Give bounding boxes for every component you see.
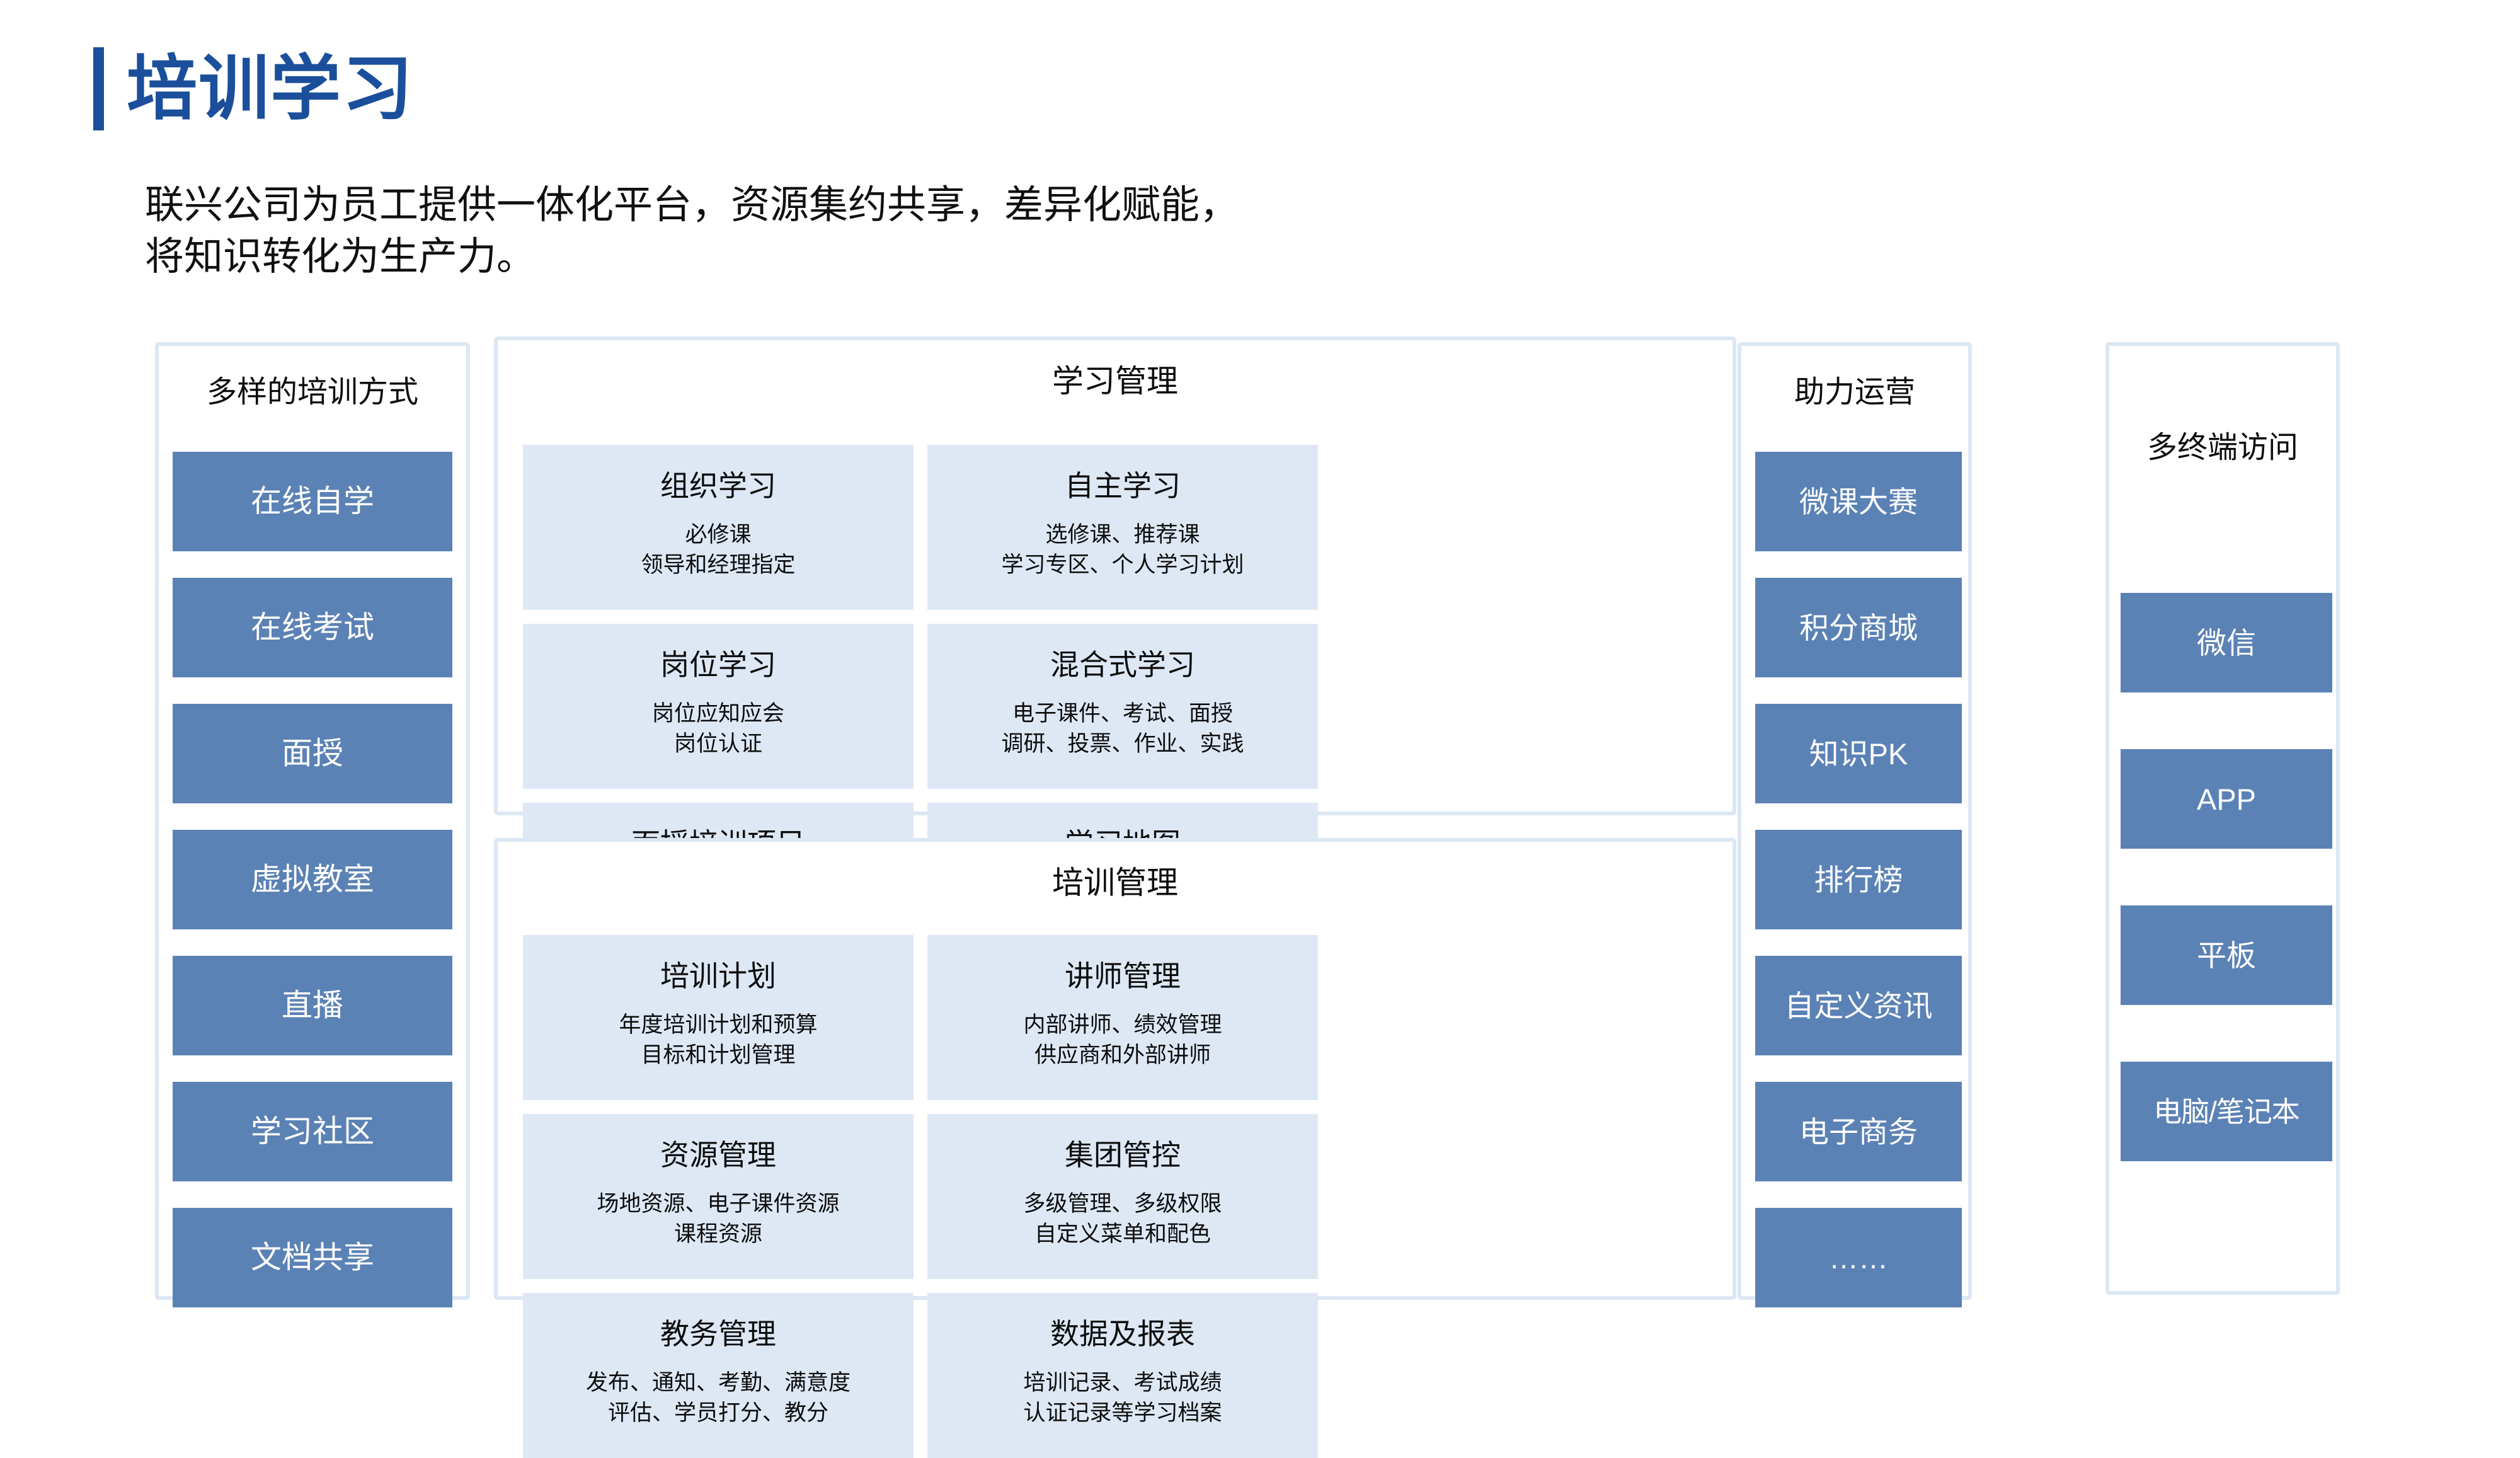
ops-tile-points-mall[interactable]: 积分商城 bbox=[1755, 578, 1962, 677]
learning-card-detail: 必修课 领导和经理指定 bbox=[641, 520, 795, 581]
panel-operations-support: 助力运营 微课大赛 积分商城 知识PK 排行榜 自定义资讯 电子商务 …… bbox=[1738, 342, 1972, 1300]
method-tile-document-sharing[interactable]: 文档共享 bbox=[173, 1208, 452, 1307]
ops-tile-label: 微课大赛 bbox=[1799, 487, 1918, 517]
learning-card-detail: 岗位应知应会 岗位认证 bbox=[652, 699, 784, 760]
training-card-detail: 多级管理、多级权限 自定义菜单和配色 bbox=[1023, 1189, 1222, 1250]
method-tile-in-person[interactable]: 面授 bbox=[173, 704, 452, 803]
training-card-detail: 培训记录、考试成绩 认证记录等学习档案 bbox=[1023, 1368, 1222, 1429]
ops-tile-more-ellipsis[interactable]: …… bbox=[1755, 1208, 1962, 1307]
training-card-title: 讲师管理 bbox=[1065, 960, 1181, 992]
method-tile-label: 面授 bbox=[282, 738, 343, 769]
panel-learning-management-heading: 学习管理 bbox=[498, 364, 1732, 399]
training-card-detail: 内部讲师、绩效管理 供应商和外部讲师 bbox=[1023, 1010, 1222, 1071]
ops-tile-custom-news[interactable]: 自定义资讯 bbox=[1755, 956, 1962, 1055]
ops-tile-micro-course-contest[interactable]: 微课大赛 bbox=[1755, 452, 1962, 551]
ops-tile-label: 排行榜 bbox=[1814, 865, 1903, 895]
ops-tile-label: 积分商城 bbox=[1799, 613, 1918, 643]
ops-tile-e-commerce[interactable]: 电子商务 bbox=[1755, 1082, 1962, 1181]
method-tile-label: 文档共享 bbox=[251, 1243, 374, 1273]
panel-learning-management: 学习管理 组织学习 必修课 领导和经理指定 自主学习 选修课、推荐课 学习专区、… bbox=[494, 336, 1736, 815]
training-methods-list: 在线自学 在线考试 面授 虚拟教室 直播 学习社区 文档共享 bbox=[173, 452, 452, 1334]
training-card-group-governance[interactable]: 集团管控 多级管理、多级权限 自定义菜单和配色 bbox=[927, 1114, 1318, 1279]
learning-card-self-directed-study[interactable]: 自主学习 选修课、推荐课 学习专区、个人学习计划 bbox=[927, 445, 1318, 610]
method-tile-label: 在线自学 bbox=[251, 486, 374, 517]
ops-tile-label: …… bbox=[1829, 1243, 1888, 1273]
method-tile-learning-community[interactable]: 学习社区 bbox=[173, 1082, 452, 1181]
terminal-tile-app[interactable]: APP bbox=[2121, 749, 2332, 849]
ops-tile-knowledge-pk[interactable]: 知识PK bbox=[1755, 704, 1962, 803]
operations-support-list: 微课大赛 积分商城 知识PK 排行榜 自定义资讯 电子商务 …… bbox=[1755, 452, 1962, 1334]
learning-card-organizational-study[interactable]: 组织学习 必修课 领导和经理指定 bbox=[523, 445, 913, 610]
training-card-academic-affairs[interactable]: 教务管理 发布、通知、考勤、满意度 评估、学员打分、教分 bbox=[523, 1293, 913, 1458]
training-card-detail: 发布、通知、考勤、满意度 评估、学员打分、教分 bbox=[586, 1368, 850, 1429]
ops-tile-label: 自定义资讯 bbox=[1785, 991, 1933, 1021]
method-tile-virtual-classroom[interactable]: 虚拟教室 bbox=[173, 830, 452, 929]
training-card-title: 集团管控 bbox=[1065, 1139, 1181, 1171]
method-tile-label: 直播 bbox=[282, 990, 343, 1021]
learning-card-blended-learning[interactable]: 混合式学习 电子课件、考试、面授 调研、投票、作业、实践 bbox=[927, 624, 1318, 789]
terminal-tile-label: APP bbox=[2197, 784, 2256, 814]
learning-card-job-post-study[interactable]: 岗位学习 岗位应知应会 岗位认证 bbox=[523, 624, 913, 789]
terminal-tile-label: 平板 bbox=[2197, 941, 2256, 970]
method-tile-online-self-study[interactable]: 在线自学 bbox=[173, 452, 452, 551]
learning-card-title: 混合式学习 bbox=[1050, 649, 1195, 681]
panel-multi-terminal-access: 多终端访问 微信 APP 平板 电脑/笔记本 bbox=[2105, 342, 2340, 1295]
panel-training-management: 培训管理 培训计划 年度培训计划和预算 目标和计划管理 讲师管理 内部讲师、绩效… bbox=[494, 838, 1736, 1300]
learning-card-title: 岗位学习 bbox=[660, 649, 776, 681]
training-card-title: 培训计划 bbox=[660, 960, 776, 992]
training-card-training-plan[interactable]: 培训计划 年度培训计划和预算 目标和计划管理 bbox=[523, 935, 913, 1100]
training-management-card-grid: 培训计划 年度培训计划和预算 目标和计划管理 讲师管理 内部讲师、绩效管理 供应… bbox=[523, 935, 1707, 1458]
ops-tile-leaderboard[interactable]: 排行榜 bbox=[1755, 830, 1962, 929]
training-card-instructor-management[interactable]: 讲师管理 内部讲师、绩效管理 供应商和外部讲师 bbox=[927, 935, 1318, 1100]
terminal-tile-wechat[interactable]: 微信 bbox=[2121, 593, 2332, 692]
training-card-detail: 年度培训计划和预算 目标和计划管理 bbox=[619, 1010, 817, 1071]
panel-training-methods: 多样的培训方式 在线自学 在线考试 面授 虚拟教室 直播 学习社区 文档共享 bbox=[155, 342, 470, 1300]
panel-training-methods-heading: 多样的培训方式 bbox=[159, 376, 466, 410]
terminal-tile-pc-laptop[interactable]: 电脑/笔记本 bbox=[2121, 1062, 2332, 1161]
learning-card-title: 自主学习 bbox=[1065, 470, 1181, 502]
ops-tile-label: 知识PK bbox=[1809, 739, 1908, 769]
method-tile-live-stream[interactable]: 直播 bbox=[173, 956, 452, 1055]
training-card-title: 数据及报表 bbox=[1050, 1318, 1195, 1350]
training-card-title: 资源管理 bbox=[660, 1139, 776, 1171]
learning-card-title: 组织学习 bbox=[660, 470, 776, 502]
terminal-tile-tablet[interactable]: 平板 bbox=[2121, 905, 2332, 1005]
learning-card-detail: 选修课、推荐课 学习专区、个人学习计划 bbox=[1001, 520, 1244, 581]
panel-training-management-heading: 培训管理 bbox=[498, 866, 1732, 900]
training-card-detail: 场地资源、电子课件资源 课程资源 bbox=[597, 1189, 839, 1250]
training-platform-diagram: 多样的培训方式 在线自学 在线考试 面授 虚拟教室 直播 学习社区 文档共享 学… bbox=[0, 0, 2520, 1418]
training-card-data-and-reports[interactable]: 数据及报表 培训记录、考试成绩 认证记录等学习档案 bbox=[927, 1293, 1318, 1458]
panel-multi-terminal-access-heading: 多终端访问 bbox=[2109, 432, 2336, 465]
terminal-tile-label: 电脑/笔记本 bbox=[2153, 1098, 2299, 1126]
method-tile-label: 在线考试 bbox=[251, 612, 374, 643]
panel-operations-support-heading: 助力运营 bbox=[1741, 376, 1968, 410]
method-tile-label: 学习社区 bbox=[251, 1116, 374, 1147]
training-card-title: 教务管理 bbox=[660, 1318, 776, 1350]
ops-tile-label: 电子商务 bbox=[1799, 1117, 1918, 1147]
terminal-tile-label: 微信 bbox=[2197, 628, 2256, 658]
training-card-resource-management[interactable]: 资源管理 场地资源、电子课件资源 课程资源 bbox=[523, 1114, 913, 1279]
learning-card-detail: 电子课件、考试、面授 调研、投票、作业、实践 bbox=[1001, 699, 1244, 760]
method-tile-online-exam[interactable]: 在线考试 bbox=[173, 578, 452, 677]
method-tile-label: 虚拟教室 bbox=[251, 864, 374, 895]
multi-terminal-access-list: 微信 APP 平板 电脑/笔记本 bbox=[2121, 593, 2332, 1218]
